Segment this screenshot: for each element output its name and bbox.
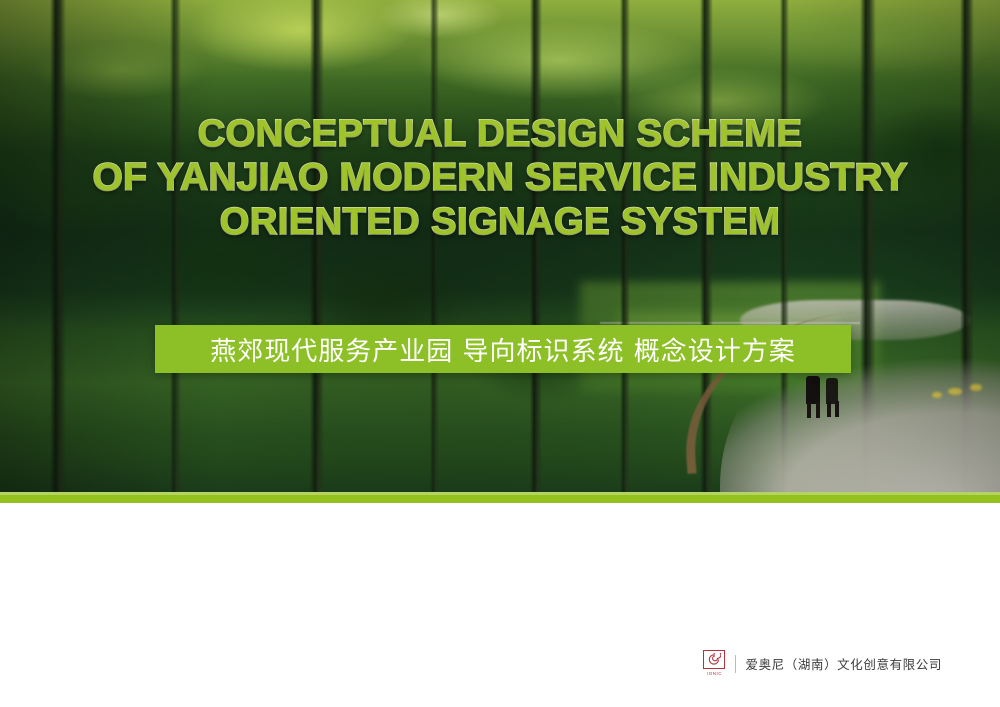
presentation-cover-slide: CONCEPTUAL DESIGN SCHEME OF YANJIAO MODE…	[0, 0, 1000, 707]
tree-trunk	[430, 0, 439, 503]
pedestrian-leg	[807, 402, 811, 418]
company-name: 爱奥尼（湖南）文化创意有限公司	[745, 654, 942, 673]
tree-trunk	[50, 0, 66, 503]
logo-frame	[703, 650, 725, 669]
title-line-1: CONCEPTUAL DESIGN SCHEME	[0, 112, 1000, 156]
pedestrian-leg	[835, 401, 839, 417]
pedestrian	[806, 376, 820, 404]
tree-trunk	[310, 0, 324, 503]
title-line-3: ORIENTED SIGNAGE SYSTEM	[0, 200, 1000, 244]
accent-rule	[0, 492, 1000, 503]
tree-trunk	[170, 0, 181, 503]
spiral-square-icon: IONIC	[702, 650, 726, 677]
spiral-glyph	[707, 653, 721, 666]
tree-trunk	[530, 0, 542, 503]
accent-rule-highlight	[0, 492, 1000, 495]
flower-cluster	[970, 384, 982, 391]
subtitle-text: 燕郊现代服务产业园 导向标识系统 概念设计方案	[210, 331, 796, 368]
hero-photo	[0, 0, 1000, 503]
logo-wordmark: IONIC	[707, 671, 722, 677]
cover-title: CONCEPTUAL DESIGN SCHEME OF YANJIAO MODE…	[0, 112, 1000, 244]
pedestrian-leg	[816, 402, 820, 418]
subtitle-banner: 燕郊现代服务产业园 导向标识系统 概念设计方案	[155, 325, 851, 373]
footer: IONIC 爱奥尼（湖南）文化创意有限公司	[0, 503, 1000, 707]
flower-cluster	[948, 388, 962, 395]
pedestrian-leg	[827, 401, 831, 417]
tree-trunk	[620, 0, 630, 503]
company-credit: IONIC 爱奥尼（湖南）文化创意有限公司	[702, 650, 942, 677]
divider	[735, 655, 736, 673]
flower-cluster	[932, 392, 942, 398]
title-line-2: OF YANJIAO MODERN SERVICE INDUSTRY	[0, 156, 1000, 200]
